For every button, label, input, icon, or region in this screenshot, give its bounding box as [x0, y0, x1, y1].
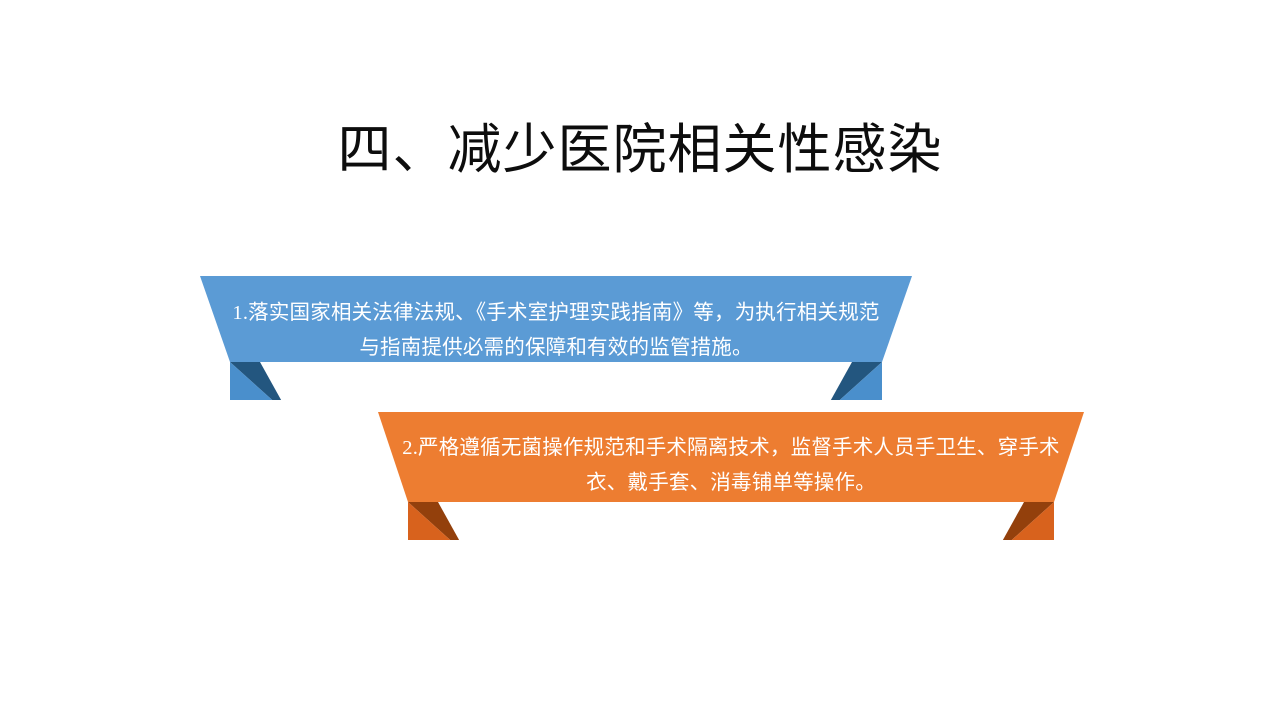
banner-orange-text: 2.严格遵循无菌操作规范和手术隔离技术，监督手术人员手卫生、穿手术衣、戴手套、消… [400, 431, 1062, 501]
slide-canvas: 四、减少医院相关性感染 1.落实国家相关法律法规、《手术室护理实践指南》等，为执… [0, 0, 1280, 720]
page-title: 四、减少医院相关性感染 [0, 118, 1280, 182]
banner-blue[interactable]: 1.落实国家相关法律法规、《手术室护理实践指南》等，为执行相关规范与指南提供必需… [196, 276, 916, 400]
banner-orange[interactable]: 2.严格遵循无菌操作规范和手术隔离技术，监督手术人员手卫生、穿手术衣、戴手套、消… [374, 412, 1088, 540]
banner-blue-text: 1.落实国家相关法律法规、《手术室护理实践指南》等，为执行相关规范与指南提供必需… [224, 296, 888, 366]
